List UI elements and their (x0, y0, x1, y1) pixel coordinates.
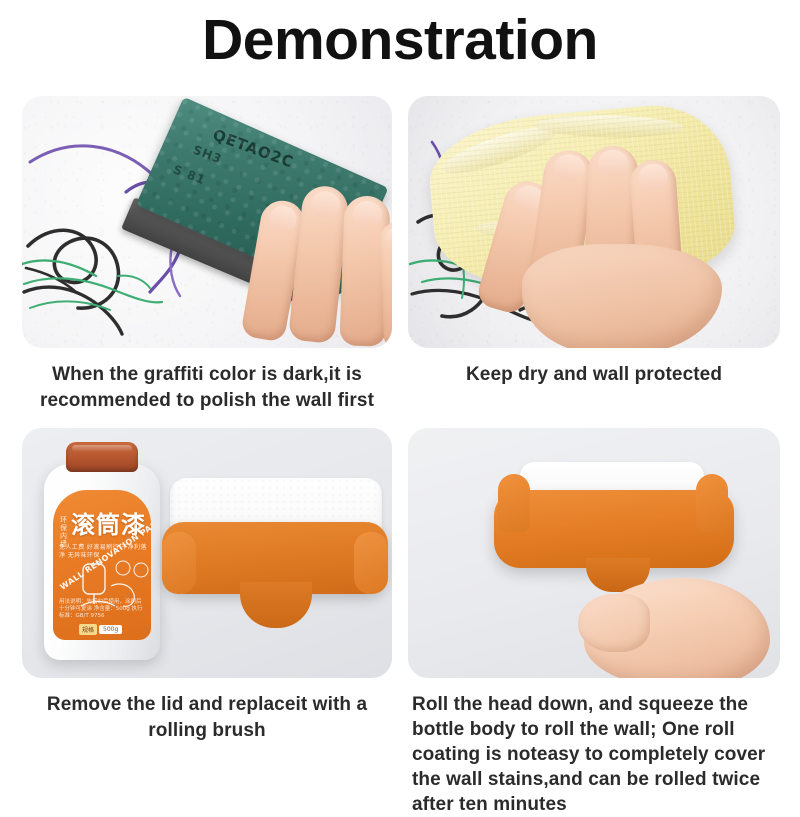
fingernail (638, 163, 668, 191)
panel-replace-lid: 环保 内墙 滚筒漆 免人工费 好滚易刷行 干净利落净 无异味环保 WALL RE… (22, 428, 392, 758)
photo-keep-dry (408, 96, 780, 348)
photo-bottle-and-roller: 环保 内墙 滚筒漆 免人工费 好滚易刷行 干净利落净 无异味环保 WALL RE… (22, 428, 392, 678)
block-print-line3: SH3 (191, 143, 224, 167)
thumb (578, 594, 650, 652)
bottle-label: 环保 内墙 滚筒漆 免人工费 好滚易刷行 干净利落净 无异味环保 WALL RE… (53, 490, 151, 640)
palm (522, 244, 722, 348)
fingernail (352, 201, 381, 228)
fingernail (552, 153, 586, 183)
label-footnote: 用法说明：先摇匀后使用，涂刷后十分钟可复涂 净含量：500g 执行标准：GB/T… (59, 599, 145, 620)
roller-side-arm-right (354, 532, 388, 594)
fingernail (267, 204, 298, 234)
roller-stem (240, 582, 312, 628)
roller-frame (494, 490, 734, 568)
fingernail (310, 190, 341, 219)
panel-roll-wall: Roll the head down, and squeeze the bott… (408, 428, 780, 788)
photo-polish-wall: QETAO2C LED SH3 S 81 (22, 96, 392, 348)
panel-caption: Remove the lid and replaceit with a roll… (22, 692, 392, 744)
hand-holding-block (246, 182, 392, 348)
roller-side-arm-right (696, 474, 728, 532)
badge-value: 500g (99, 625, 122, 634)
fingernail (597, 150, 629, 177)
photo-roller-on-wall (408, 428, 780, 678)
label-brand-tag: 环保 内墙 (57, 516, 70, 542)
panel-caption: Keep dry and wall protected (408, 362, 780, 388)
panel-caption: When the graffiti color is dark,it is re… (22, 362, 392, 414)
label-spec-badge: 规格 500g (79, 624, 122, 635)
badge-label: 规格 (79, 624, 97, 635)
roller-brush-head (162, 478, 388, 643)
paint-bottle: 环保 内墙 滚筒漆 免人工费 好滚易刷行 干净利落净 无异味环保 WALL RE… (44, 442, 160, 660)
fingernail (386, 227, 392, 248)
roller-side-arm-left (498, 474, 530, 532)
panel-caption: Roll the head down, and squeeze the bott… (408, 692, 780, 817)
page-title: Demonstration (0, 8, 800, 72)
block-print-line4: S 81 (171, 162, 207, 187)
panel-keep-dry: Keep dry and wall protected (408, 96, 780, 396)
bottle-cap (66, 442, 138, 472)
panel-polish-wall: QETAO2C LED SH3 S 81 (22, 96, 392, 396)
demonstration-infographic: Demonstration QETAO2 (0, 0, 800, 800)
roller-side-arm-left (162, 532, 196, 594)
